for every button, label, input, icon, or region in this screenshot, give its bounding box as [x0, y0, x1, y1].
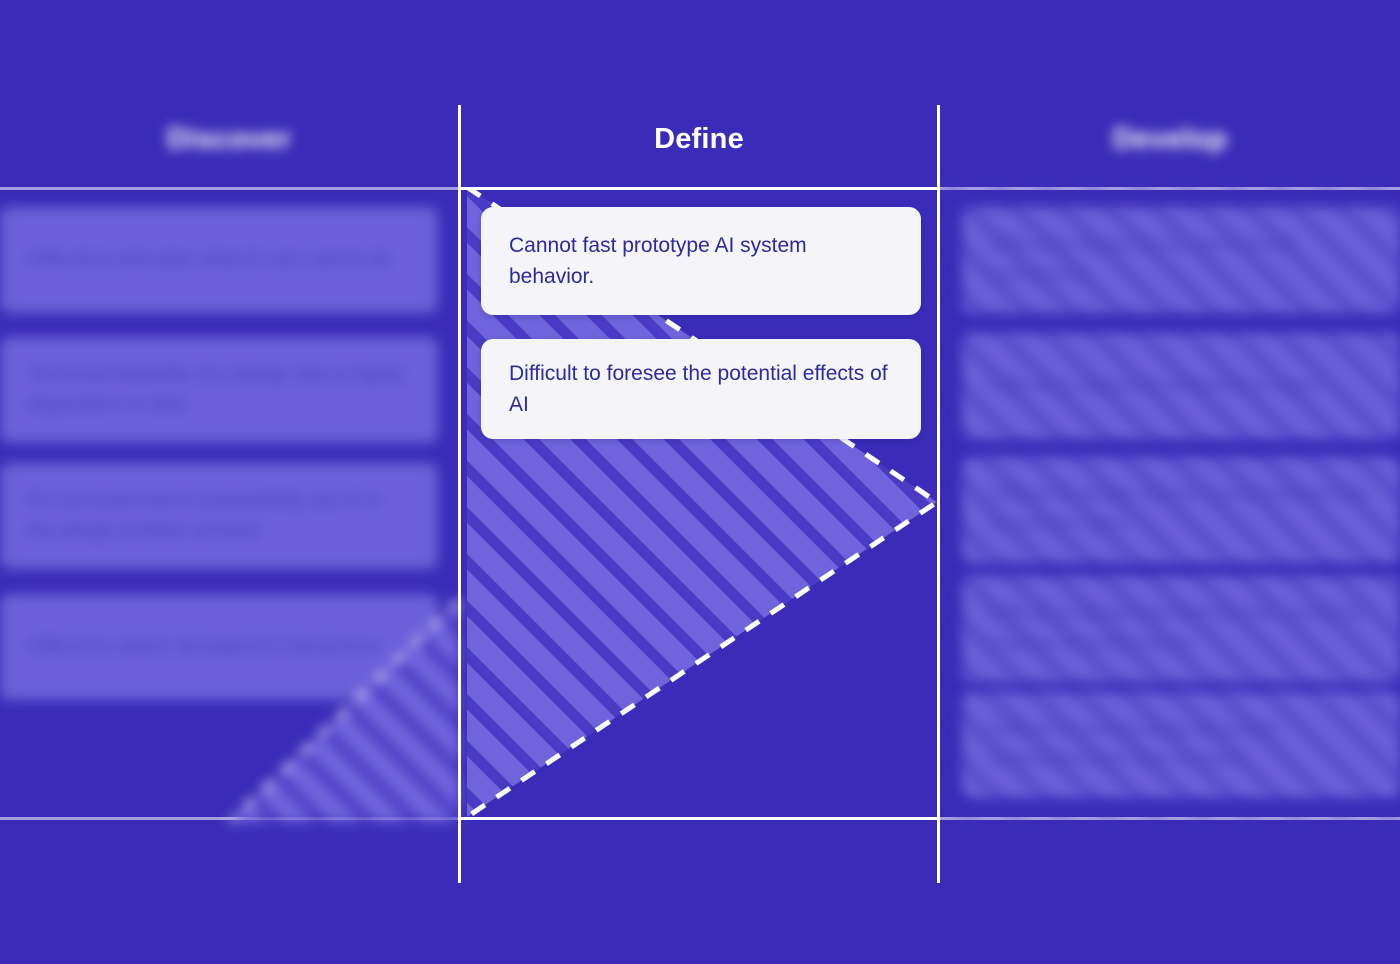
list-item[interactable]: Technical feasibility of a design idea i…: [0, 337, 438, 443]
cards-layer-develop: Difficult to design fuzzy, open-ended in…: [940, 0, 1400, 964]
list-item[interactable]: Difficult to design interactions that co…: [962, 576, 1400, 682]
card-text: Technical feasibility of a design idea i…: [28, 360, 410, 420]
card-text: Difficult to sketch divergent AI interac…: [28, 632, 379, 662]
list-item[interactable]: Difficult to design fuzzy, open-ended in…: [962, 207, 1400, 313]
cards-layer-discover: Difficult to articulate what AI can/ can…: [0, 0, 458, 964]
card-text: Do not know how to purposefully use AI i…: [28, 486, 410, 546]
list-item[interactable]: Difficult to explain AI behaviors to use…: [962, 333, 1400, 439]
card-text: Difficult to articulate what AI can/ can…: [28, 245, 391, 275]
column-develop[interactable]: Develop Difficult to design fuzzy, open-…: [940, 0, 1400, 964]
divider-horizontal-bottom-center: [458, 817, 940, 820]
list-item[interactable]: Difficult to design shared control betwe…: [962, 457, 1400, 563]
divider-vertical-right: [937, 105, 940, 883]
column-discover[interactable]: Discover Difficult to articulate what AI…: [0, 0, 458, 964]
list-item[interactable]: Cannot fast prototype AI system behavior…: [481, 207, 921, 315]
list-item[interactable]: Difficult to articulate what AI can/ can…: [0, 207, 438, 313]
card-text: Difficult to explain AI behaviors to use…: [990, 371, 1321, 401]
list-item[interactable]: Difficult to sketch divergent AI interac…: [0, 594, 438, 700]
divider-horizontal-top-center: [458, 187, 940, 190]
card-text: Cannot fast prototype AI system behavior…: [509, 230, 893, 292]
card-text: Difficult to foresee the potential effec…: [509, 358, 893, 420]
divider-vertical-left: [458, 105, 461, 883]
card-text: Difficult to design interactions that co…: [990, 599, 1372, 659]
card-text: Difficult to design fuzzy, open-ended in…: [990, 230, 1372, 290]
diagram-canvas: Discover Difficult to articulate what AI…: [0, 0, 1400, 964]
list-item[interactable]: Do not know how to purposefully use AI i…: [0, 463, 438, 569]
list-item[interactable]: Difficult to communicate AI system evolv…: [962, 692, 1400, 798]
card-text: Difficult to communicate AI system evolv…: [990, 715, 1372, 775]
list-item[interactable]: Difficult to foresee the potential effec…: [481, 339, 921, 439]
card-text: Difficult to design shared control betwe…: [990, 480, 1372, 540]
